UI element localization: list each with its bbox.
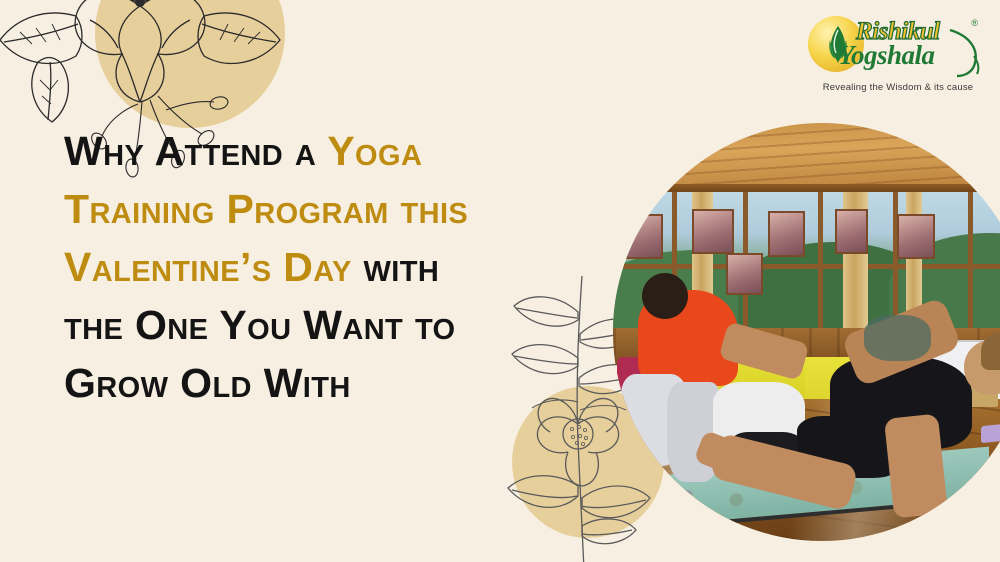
headline-line-1-black: Why Attend a [64,128,327,174]
decorative-circle-top [95,0,285,128]
photo-tattoo [864,315,931,361]
photo-portrait [768,211,805,256]
promo-banner: Why Attend a Yoga Training Program this … [0,0,1000,562]
headline-line-2: Training Program this [64,180,584,238]
headline-line-5: Grow Old With [64,354,584,412]
headline-line-1-gold: Yoga [327,128,422,174]
photo-window-mullion [968,192,973,330]
headline-line-1: Why Attend a Yoga [64,122,584,180]
photo-scene: YOGA RISHIKESH [613,123,1000,541]
headline-line-2-gold: Training Program this [64,186,468,232]
photo-portrait [897,214,934,259]
headline-line-4: the One You Want to [64,296,584,354]
photo-portrait [626,214,663,259]
brand-logo[interactable]: Rishikul Yogshala ® Revealing the Wisdom… [806,10,982,106]
logo-tagline: Revealing the Wisdom & its cause [812,82,984,93]
headline-line-4-black: the One You Want to [64,302,456,348]
headline: Why Attend a Yoga Training Program this … [64,122,584,412]
logo-wordmark: Rishikul Yogshala ® [840,16,984,78]
logo-brand-line-2: Yogshala [838,40,935,71]
photo-window-mullion [893,192,898,330]
photo-foreground-front-leg [884,413,949,518]
logo-swoosh-icon [944,26,986,78]
photo-rolled-mat [981,422,1000,443]
headline-line-5-black: Grow Old With [64,360,351,406]
photo-portrait [692,209,734,254]
headline-line-3-black: with [364,244,440,290]
yoga-class-photo: YOGA RISHIKESH [613,123,1000,541]
photo-window-mullion [818,192,823,330]
photo-ceiling [613,123,1000,190]
headline-line-3-gold: Valentine’s Day [64,244,364,290]
photo-window-rail [613,264,1000,269]
photo-portrait [726,253,763,296]
headline-line-3: Valentine’s Day with [64,238,584,296]
photo-portrait [835,209,868,254]
